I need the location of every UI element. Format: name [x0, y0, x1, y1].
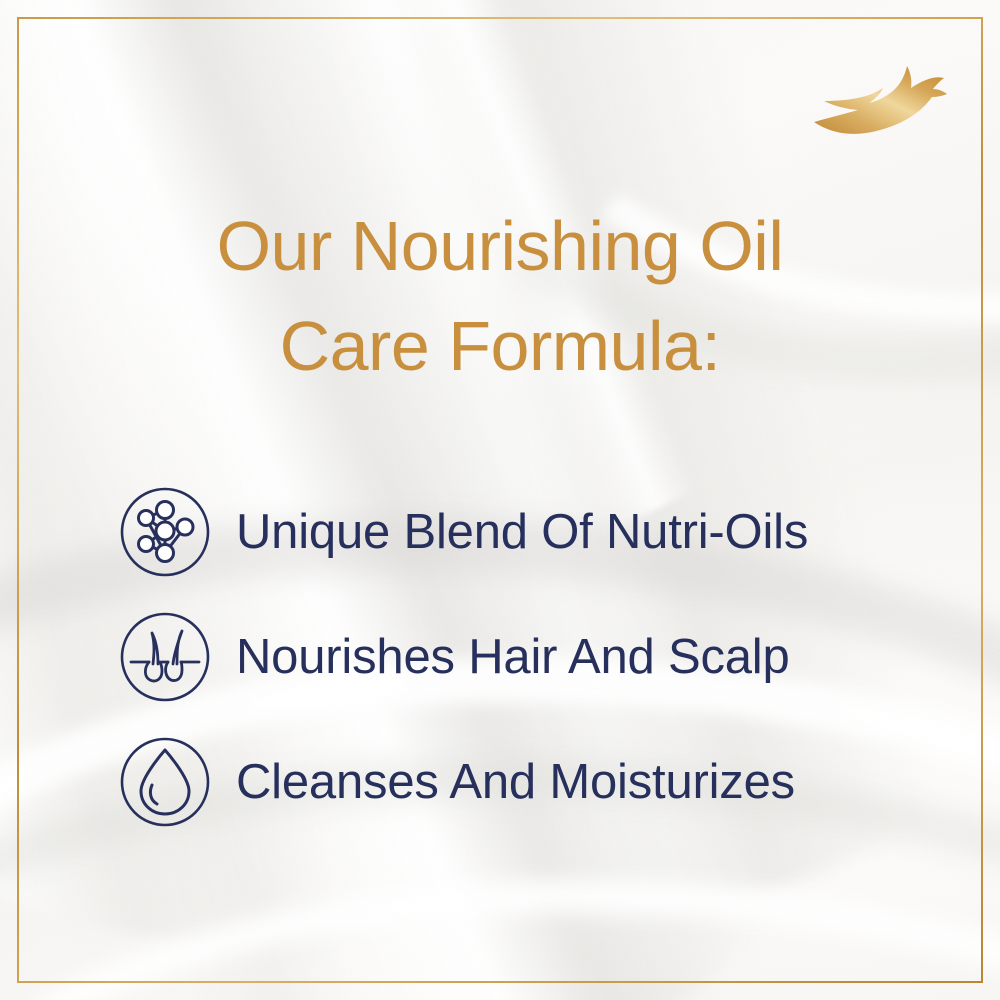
benefit-item-unique-blend: Unique Blend Of Nutri-Oils [118, 478, 918, 586]
product-benefits-poster: Our Nourishing Oil Care Formula: [0, 0, 1000, 1000]
molecule-icon [118, 485, 212, 579]
water-droplet-icon [118, 735, 212, 829]
benefits-list: Unique Blend Of Nutri-Oils [118, 478, 918, 836]
benefit-label: Nourishes Hair And Scalp [236, 633, 790, 682]
benefit-item-cleanses-moisturizes: Cleanses And Moisturizes [118, 728, 918, 836]
benefit-label: Cleanses And Moisturizes [236, 758, 795, 807]
title-line-1: Our Nourishing Oil [70, 196, 930, 296]
hair-follicle-icon [118, 610, 212, 704]
page-title: Our Nourishing Oil Care Formula: [0, 196, 1000, 396]
benefit-label: Unique Blend Of Nutri-Oils [236, 508, 808, 557]
dove-icon [812, 56, 952, 140]
title-line-2: Care Formula: [70, 296, 930, 396]
benefit-item-nourishes-hair: Nourishes Hair And Scalp [118, 603, 918, 711]
